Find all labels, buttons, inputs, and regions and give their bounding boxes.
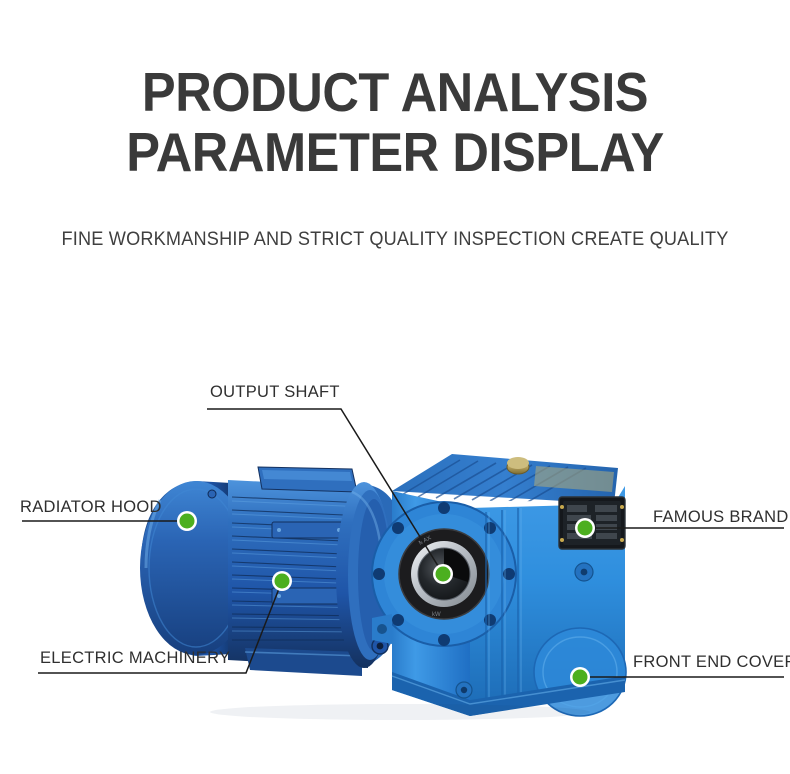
svg-text:kW: kW bbox=[432, 612, 441, 618]
poster-canvas: PRODUCT ANALYSIS PARAMETER DISPLAY FINE … bbox=[0, 0, 790, 774]
callout-label-output-shaft[interactable]: OUTPUT SHAFT bbox=[210, 383, 340, 402]
callout-label-electric-machinery[interactable]: ELECTRIC MACHINERY bbox=[40, 649, 230, 668]
callout-label-front-end-cover[interactable]: FRONT END COVER bbox=[633, 653, 790, 672]
nameplate bbox=[559, 497, 625, 549]
output-flange: MAX kW bbox=[372, 502, 516, 646]
callout-label-radiator-hood[interactable]: RADIATOR HOOD bbox=[20, 498, 162, 517]
gearbox-housing: MAX kW bbox=[372, 454, 626, 716]
callout-label-famous-brand[interactable]: FAMOUS BRAND bbox=[653, 508, 789, 527]
